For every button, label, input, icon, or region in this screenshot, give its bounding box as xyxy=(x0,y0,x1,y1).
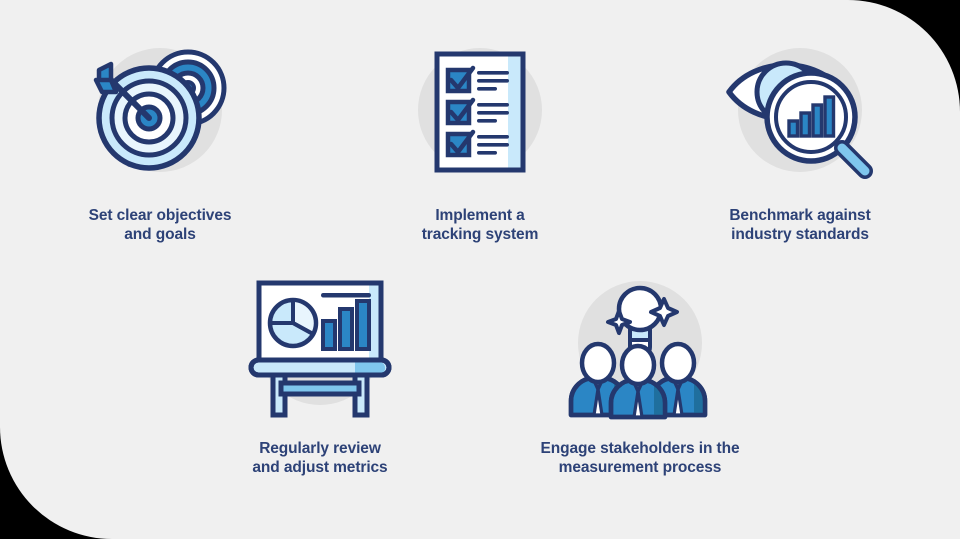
step-label: Benchmark against industry standards xyxy=(685,206,915,245)
step-label: Implement a tracking system xyxy=(365,206,595,245)
step-card-engage-stakeholders[interactable]: Engage stakeholders in the measurement p… xyxy=(550,281,730,478)
step-card-benchmark-industry-standards[interactable]: Benchmark against industry standards xyxy=(710,48,890,245)
eye-magnifier-bar-chart-icon xyxy=(725,48,875,188)
infographic-canvas: Set clear objectives and goals xyxy=(0,0,960,539)
step-card-set-clear-objectives[interactable]: Set clear objectives and goals xyxy=(70,48,250,245)
step-label: Engage stakeholders in the measurement p… xyxy=(515,439,765,478)
step-label: Regularly review and adjust metrics xyxy=(205,439,435,478)
step-card-regularly-review-metrics[interactable]: Regularly review and adjust metrics xyxy=(230,281,410,478)
steps-row-bottom: Regularly review and adjust metrics xyxy=(0,281,960,478)
checklist-clipboard-icon xyxy=(405,48,555,188)
steps-row-top: Set clear objectives and goals xyxy=(0,48,960,245)
presentation-board-charts-icon xyxy=(245,281,395,421)
step-label: Set clear objectives and goals xyxy=(45,206,275,245)
step-card-implement-tracking-system[interactable]: Implement a tracking system xyxy=(390,48,570,245)
target-with-arrow-icon xyxy=(85,48,235,188)
people-lightbulb-icon xyxy=(565,281,715,421)
